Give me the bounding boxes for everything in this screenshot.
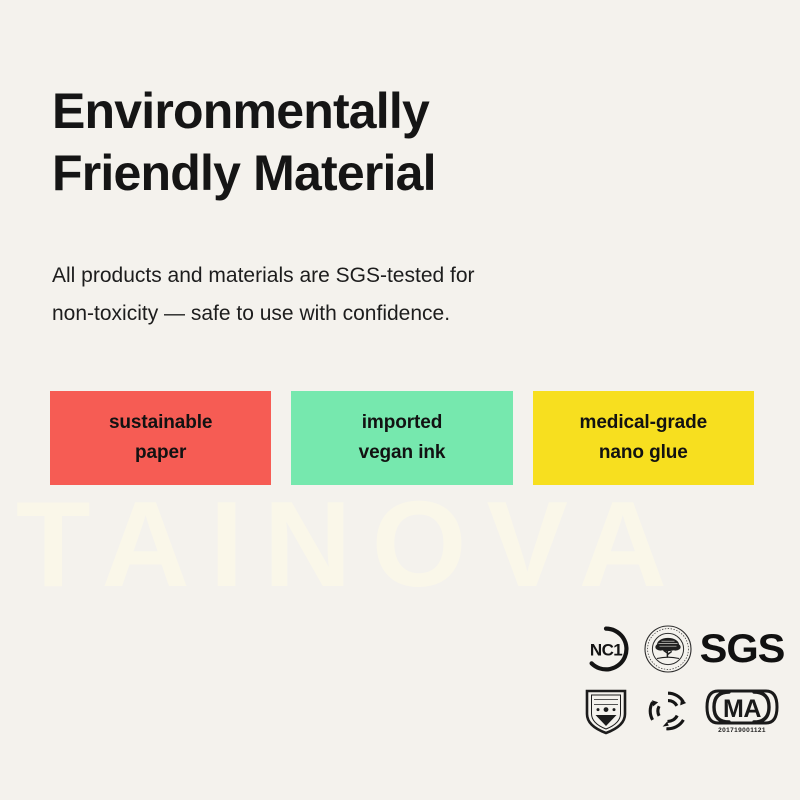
page-title-line-2: Friendly Material [52, 142, 752, 204]
material-chip-line-1: medical-grade [580, 408, 708, 438]
recycle-icon [637, 680, 699, 742]
nc1-icon: NC1 [575, 618, 637, 680]
certification-badge-group: NC1 [575, 618, 785, 746]
material-chip-line-2: nano glue [599, 438, 688, 468]
forest-seal-icon [637, 618, 699, 680]
material-chip-line-1: sustainable [109, 408, 212, 438]
page-title-line-1: Environmentally [52, 80, 752, 142]
page-title: Environmentally Friendly Material [52, 80, 752, 204]
brand-watermark: TAINOVA [16, 484, 784, 604]
material-chip-sustainable-paper: sustainable paper [50, 391, 271, 485]
material-chip-line-2: paper [135, 438, 186, 468]
material-chip-group: sustainable paper imported vegan ink med… [50, 391, 754, 487]
material-chip-line-2: vegan ink [359, 438, 446, 468]
shield-icon [575, 680, 637, 742]
material-chip-line-1: imported [362, 408, 442, 438]
material-chip-medical-grade-nano-glue: medical-grade nano glue [533, 391, 754, 485]
material-chip-imported-vegan-ink: imported vegan ink [291, 391, 512, 485]
page-subtitle-line-2: non-toxicity — safe to use with confiden… [52, 295, 692, 333]
cma-certificate-number: 201719001121 [718, 727, 766, 734]
page-subtitle: All products and materials are SGS-teste… [52, 257, 692, 333]
cma-icon: MA 201719001121 [699, 680, 785, 742]
page-subtitle-line-1: All products and materials are SGS-teste… [52, 257, 692, 295]
svg-text:MA: MA [723, 695, 761, 723]
poster-canvas: TAINOVA Environmentally Friendly Materia… [0, 0, 800, 800]
sgs-icon: SGS [697, 618, 786, 680]
svg-text:NC1: NC1 [590, 641, 622, 660]
